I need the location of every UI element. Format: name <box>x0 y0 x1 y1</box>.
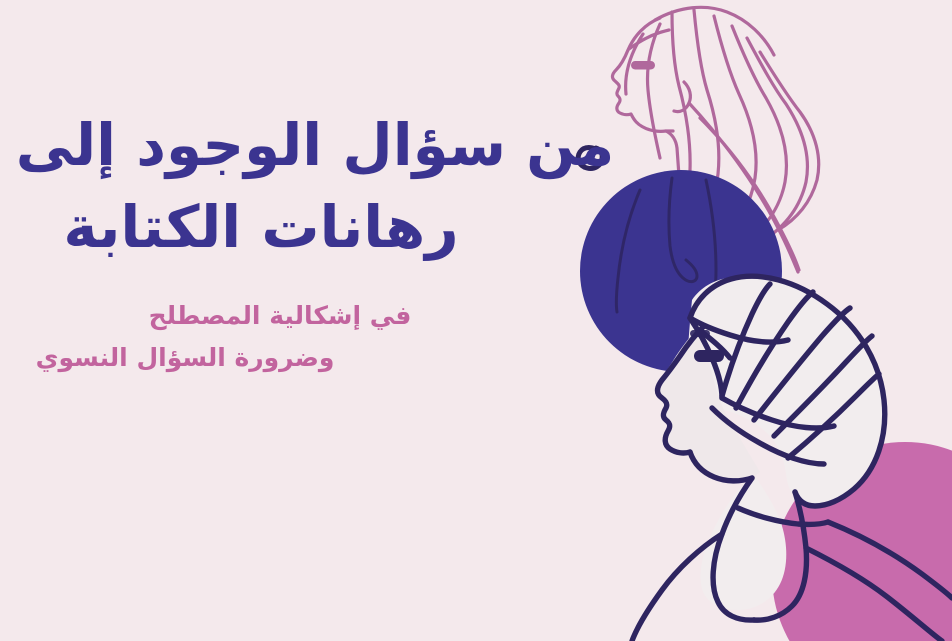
pink-hair-sweep <box>689 103 798 272</box>
scarf-tail-fill <box>701 478 787 610</box>
pink-hair-strand-1 <box>672 12 690 232</box>
scarf-tail-left <box>713 478 754 620</box>
turban-knot-2 <box>702 332 730 358</box>
pink-shoulder-line <box>679 176 744 220</box>
face-jaw-line <box>690 452 752 481</box>
face-fill <box>656 326 761 481</box>
pink-neck-line <box>666 131 679 176</box>
turban-fold-2 <box>736 292 813 408</box>
body-shoulder-line <box>632 534 722 641</box>
turban-eye <box>694 350 724 362</box>
pink-hair-inner-1 <box>648 24 661 158</box>
body-shoulder-right <box>806 548 942 641</box>
turban-fill <box>687 276 883 505</box>
turban-fold-5 <box>788 374 879 458</box>
pink-hair-strand-2 <box>692 10 719 236</box>
poster-canvas: من سؤال الوجود إلى رهانات الكتابة في إشك… <box>0 0 952 641</box>
scarf-tail-band <box>738 508 828 524</box>
turban-outline <box>690 276 885 506</box>
poster-subtitle-line-1: في إشكالية المصطلح <box>0 295 640 337</box>
pink-hair-strand-3 <box>714 16 756 240</box>
turban-wrap-edge <box>712 408 824 464</box>
poster-text-block: من سؤال الوجود إلى رهانات الكتابة في إشك… <box>0 104 640 379</box>
pink-hair-sweep-2 <box>700 118 799 270</box>
pink-hair-inner-2 <box>626 34 643 94</box>
turban-fold-1 <box>722 284 770 396</box>
pink-eye <box>631 61 655 70</box>
pink-hair-strand-4 <box>732 26 786 242</box>
scarf-tail-right <box>754 492 806 620</box>
turban-fold-4 <box>774 336 872 436</box>
turban-brow-band <box>690 318 788 342</box>
turban-fold-3 <box>754 308 850 420</box>
poster-subtitle-block: في إشكالية المصطلح وضرورة السؤال النسوي <box>0 295 640 379</box>
poster-subtitle-line-2: وضرورة السؤال النسوي <box>0 337 640 379</box>
pink-hairline <box>629 30 669 49</box>
turban-lower-wrap <box>722 398 834 428</box>
woman-profile-turban-fill <box>656 276 883 610</box>
woman-profile-turban <box>632 276 952 641</box>
pink-hair-strand-6 <box>760 52 819 230</box>
poster-title-line-2: رهانات الكتابة <box>0 186 640 268</box>
body-arm-line <box>828 522 952 598</box>
turban-knot <box>690 318 722 398</box>
woman-profile-long-hair <box>612 7 818 272</box>
face-profile <box>658 326 705 453</box>
poster-title-line-1: من سؤال الوجود إلى <box>0 104 640 186</box>
pink-circle <box>772 442 952 641</box>
turban-eyebrow <box>690 330 710 337</box>
pink-hair-knot <box>674 82 690 112</box>
pink-hair-cap <box>655 7 774 55</box>
pink-hair-strand-5 <box>747 38 807 240</box>
